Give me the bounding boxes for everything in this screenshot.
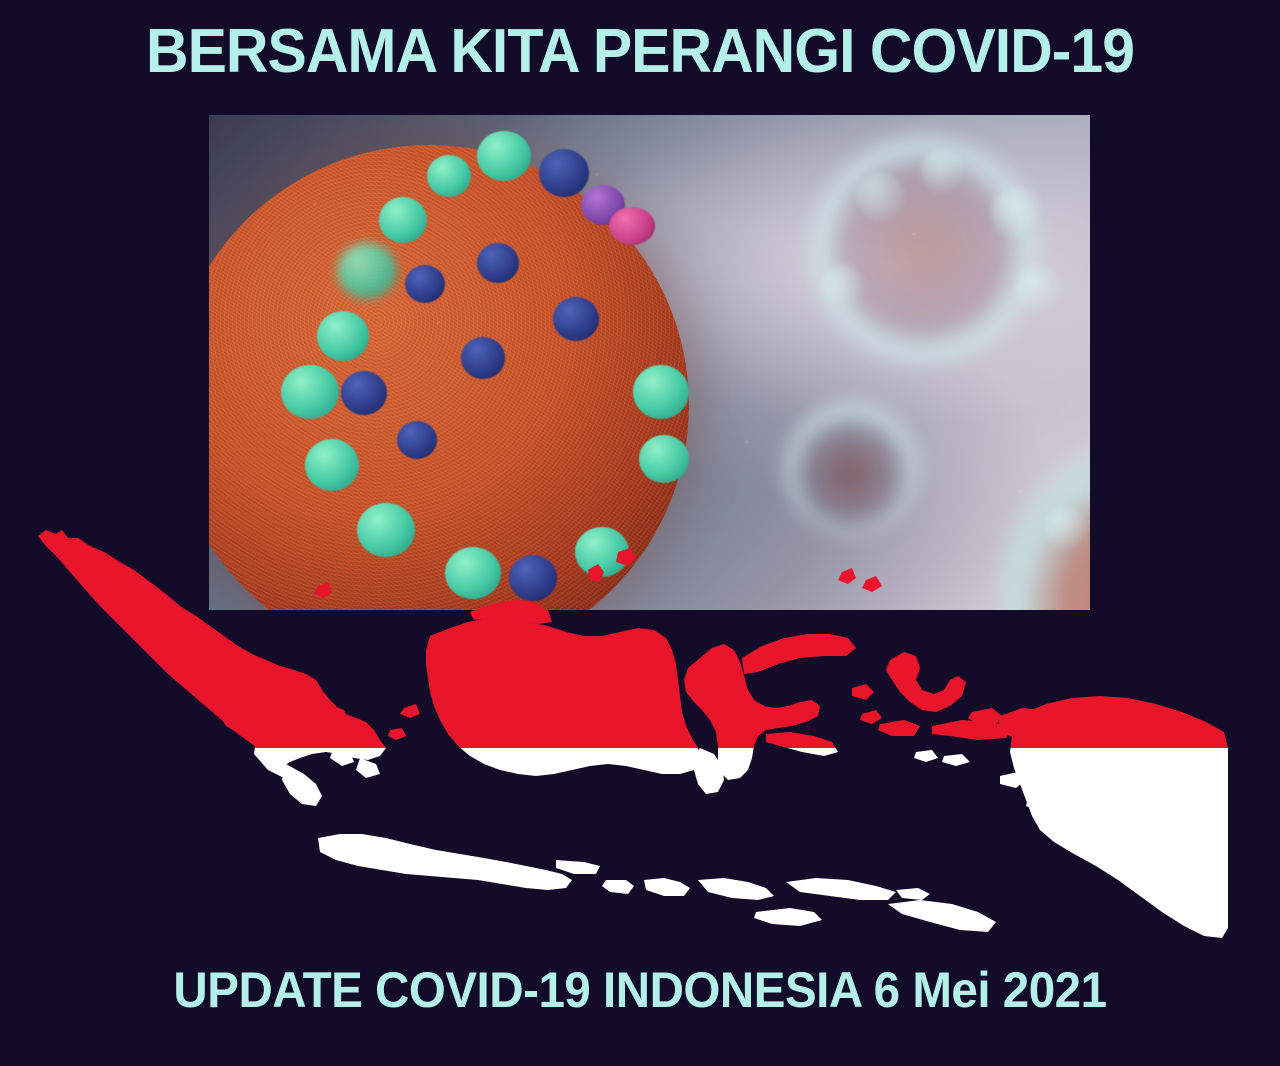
spike-icon	[609, 207, 655, 245]
spike-icon	[379, 197, 427, 243]
indonesia-map	[0, 508, 1280, 958]
spike-icon	[477, 243, 519, 283]
indonesia-map-svg	[0, 508, 1280, 958]
spike-icon	[281, 365, 339, 419]
flag-white-band	[0, 748, 1280, 958]
spike-icon	[477, 131, 531, 181]
bokeh-dot	[857, 173, 905, 221]
bokeh-dot	[821, 265, 865, 309]
map-flag-fill	[0, 508, 1280, 958]
spike-icon	[539, 149, 589, 197]
flag-red-band	[0, 508, 1280, 748]
spike-icon	[427, 155, 471, 197]
spike-icon	[461, 337, 505, 379]
spike-icon	[317, 311, 369, 361]
bokeh-dot	[1015, 265, 1063, 313]
spike-icon	[341, 371, 387, 415]
bokeh-dot	[921, 149, 965, 193]
spike-icon	[639, 435, 689, 483]
poster-canvas: BERSAMA KITA PERANGI COVID-19	[0, 0, 1280, 1066]
spike-icon	[405, 265, 445, 303]
spike-icon	[553, 297, 599, 341]
spike-icon	[305, 439, 359, 491]
page-title: BERSAMA KITA PERANGI COVID-19	[32, 18, 1248, 86]
spike-icon	[397, 421, 437, 459]
spike-icon	[337, 243, 397, 299]
footer-caption: UPDATE COVID-19 INDONESIA 6 Mei 2021	[32, 962, 1248, 1018]
bokeh-dot	[991, 187, 1043, 239]
spike-icon	[633, 365, 689, 419]
